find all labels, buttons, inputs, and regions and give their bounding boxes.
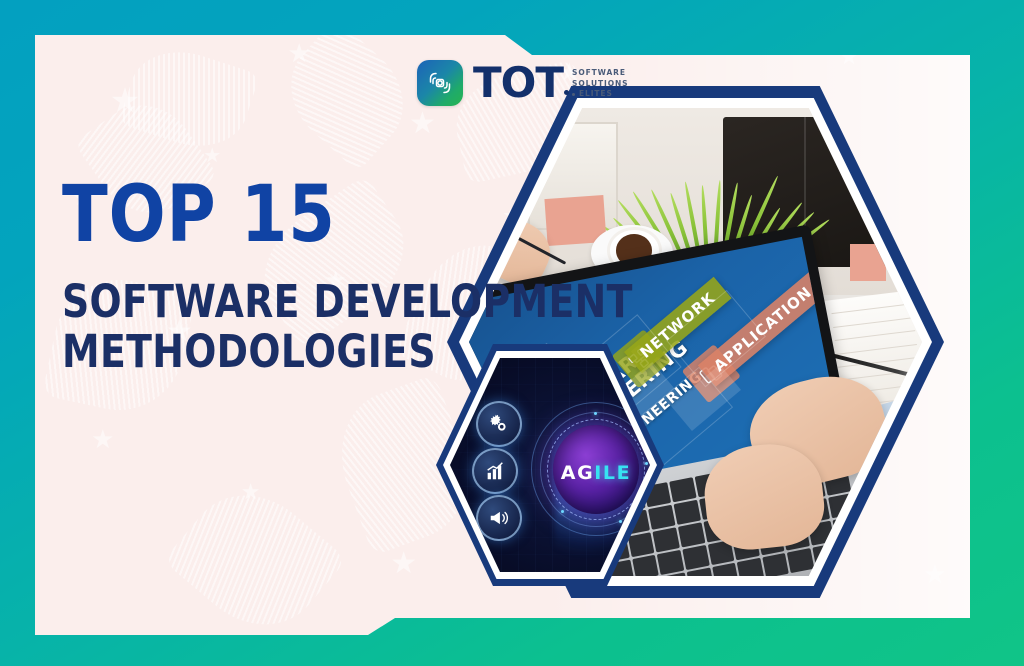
- brand-tagline-bullet-icon: [572, 93, 575, 96]
- texture-star-icon: ★: [241, 482, 261, 504]
- texture-star-icon: ★: [91, 427, 114, 453]
- brand-dot-icon: [564, 90, 569, 95]
- poster-canvas: ★★★★★★★★★★★★★★★★★★★★★★★ TOT SOFTWARE: [0, 0, 1024, 666]
- brand-tagline-line-3: ELITES: [579, 89, 613, 100]
- texture-foliage: [162, 469, 346, 635]
- texture-star-icon: ★: [390, 549, 417, 579]
- headline-subtitle-line-2: METHODOLOGIES: [62, 327, 633, 377]
- headline-subtitle: SOFTWARE DEVELOPMENT METHODOLOGIES: [62, 277, 633, 378]
- headline-top: TOP 15: [62, 178, 646, 253]
- brand-tagline: SOFTWARE SOLUTIONS ELITES: [572, 68, 628, 103]
- texture-star-icon: ★: [409, 109, 436, 139]
- texture-foliage: [118, 37, 260, 160]
- keyboard-key: [682, 546, 709, 571]
- texture-star-icon: ★: [203, 145, 221, 165]
- keyboard-key: [673, 501, 700, 526]
- tot-logo-icon: [417, 60, 463, 106]
- keyboard-key: [669, 478, 696, 503]
- headline-subtitle-line-1: SOFTWARE DEVELOPMENT: [62, 277, 633, 327]
- headline-block: TOP 15 SOFTWARE DEVELOPMENT METHODOLOGIE…: [62, 178, 741, 378]
- content-card: ★★★★★★★★★★★★★★★★★★★★★★★ TOT SOFTWARE: [35, 23, 970, 635]
- keyboard-key: [762, 554, 789, 576]
- orb-node-dot: [645, 462, 648, 465]
- agile-label: AGILE: [538, 462, 650, 484]
- texture-foliage: [269, 23, 425, 173]
- agile-label-part2: ILE: [594, 462, 631, 484]
- keyboard-key: [687, 568, 714, 576]
- orb-node-dot: [594, 412, 597, 415]
- brand-wordmark: TOT: [473, 64, 563, 103]
- keyboard-key: [712, 564, 739, 576]
- megaphone-icon: [476, 495, 522, 541]
- hexagon-secondary-image: AGILE: [436, 344, 664, 586]
- keyboard-key: [678, 523, 705, 548]
- agile-label-part1: AG: [561, 462, 595, 484]
- growth-chart-icon: [472, 448, 518, 494]
- brand-tagline-line-1: SOFTWARE: [572, 68, 626, 77]
- texture-star-icon: ★: [287, 41, 310, 67]
- orb-node-dot: [619, 520, 622, 523]
- gears-icon: [476, 401, 522, 447]
- texture-star-icon: ★: [110, 84, 140, 118]
- keyboard-key: [737, 559, 764, 576]
- brand-tagline-line-2: SOLUTIONS: [572, 79, 628, 88]
- brand-lockup: TOT SOFTWARE SOLUTIONS ELITES: [417, 60, 628, 106]
